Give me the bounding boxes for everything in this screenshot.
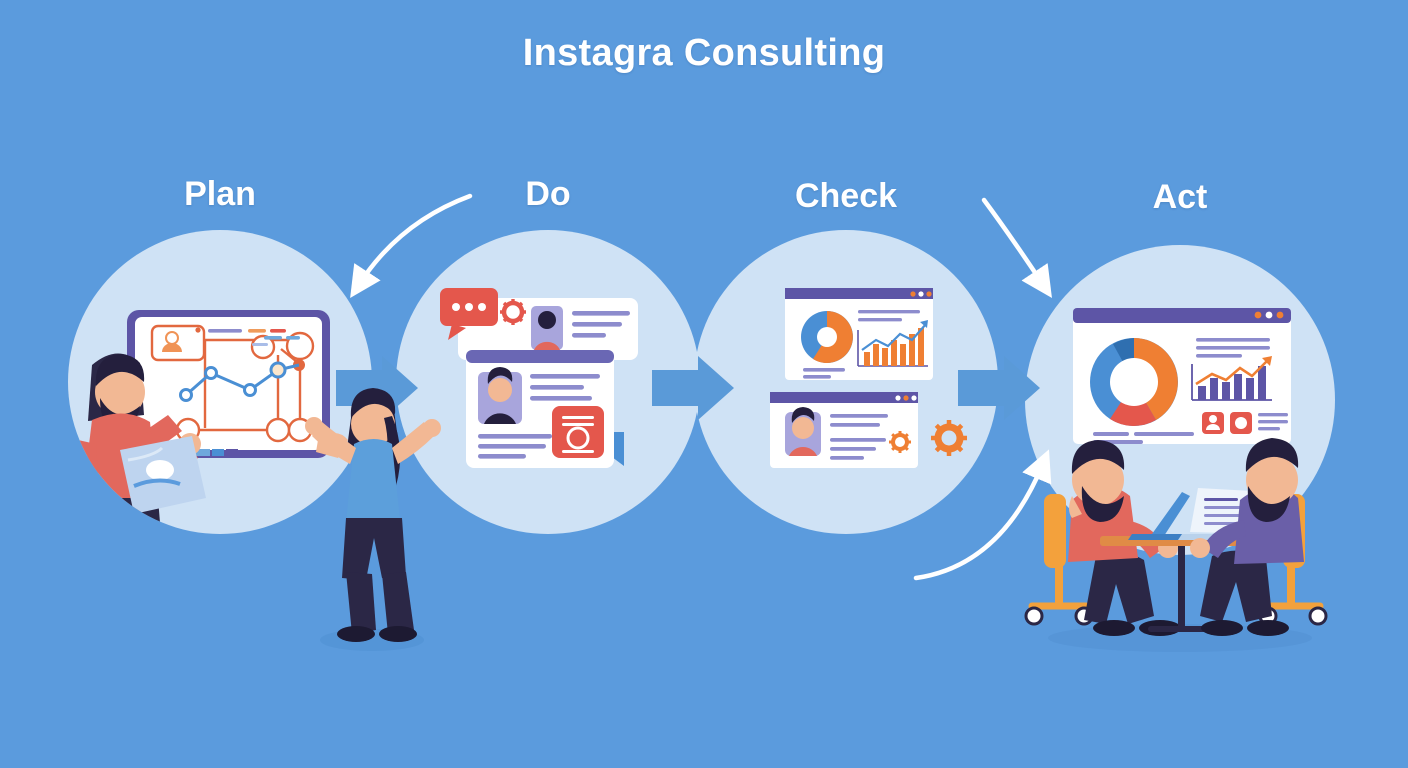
profile-window	[770, 392, 918, 468]
analytics-window	[785, 288, 933, 380]
do-scene	[440, 288, 638, 468]
circle-check[interactable]	[694, 230, 998, 534]
results-dashboard-window	[1073, 308, 1291, 444]
act-donut	[1090, 338, 1178, 426]
flow-diagram	[0, 0, 1408, 768]
profile-card-front	[466, 350, 614, 468]
stage-label-do[interactable]: Do	[428, 175, 668, 214]
act-scene	[1073, 308, 1291, 444]
camera-tile	[552, 406, 604, 458]
stage-label-check[interactable]: Check	[726, 177, 966, 216]
woman-celebrating	[305, 388, 441, 651]
illustration-canvas: Instagra Consulting	[0, 0, 1408, 768]
stage-label-plan[interactable]: Plan	[100, 175, 340, 214]
check-to-act-curve	[984, 200, 1042, 283]
check-donut	[801, 311, 853, 363]
stage-label-act[interactable]: Act	[1060, 178, 1300, 217]
